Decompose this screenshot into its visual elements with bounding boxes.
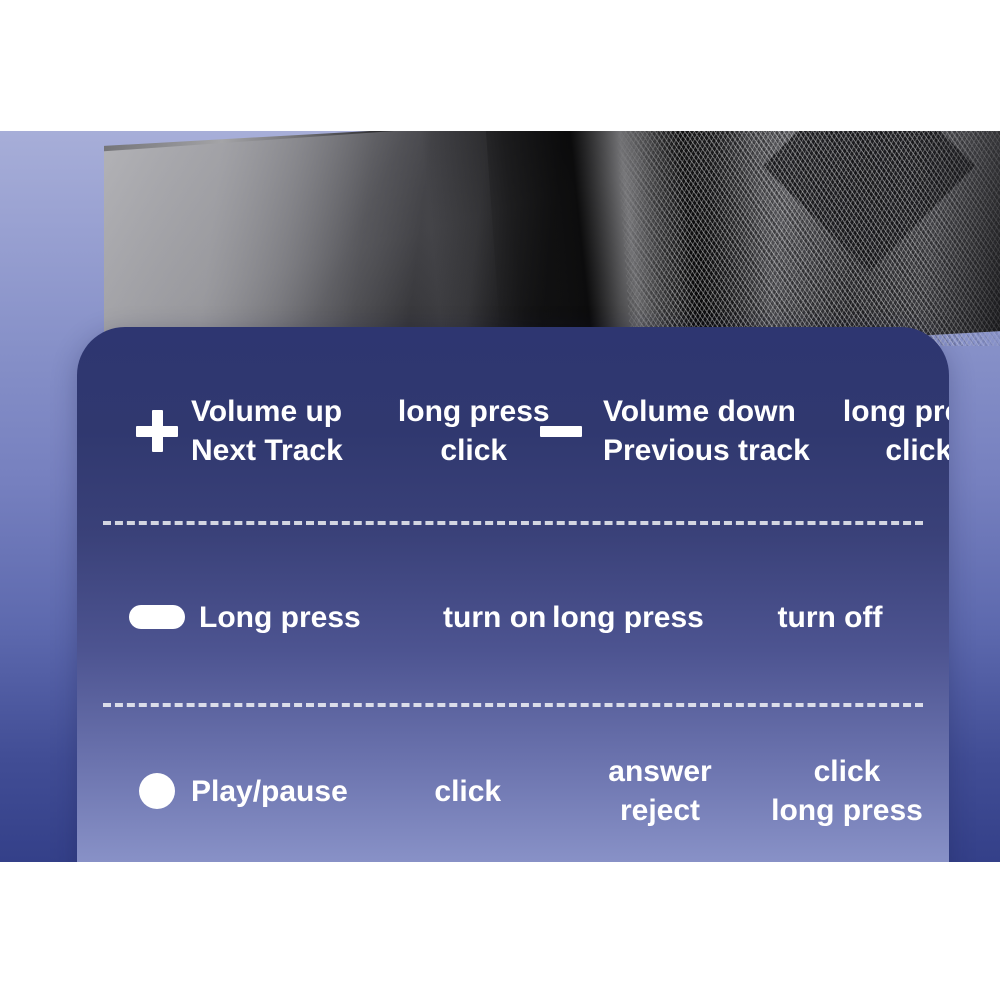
action-label: turn off [745,598,915,637]
call-actions: click long press [747,752,947,830]
power-off-group: long press turn off [521,598,949,637]
control-rows: Volume up Next Track long press click [77,327,949,862]
table-row-playback: Play/pause click answer reject click [77,735,949,847]
row-separator [103,521,923,525]
volume-down-actions: long press click [832,392,949,470]
control-guide-card: Volume up Next Track long press click [77,327,949,862]
volume-up-functions: Volume up Next Track [191,392,343,470]
call-group: answer reject click long press [521,752,949,830]
function-label: Volume down [603,392,810,431]
function-label: long press [533,598,723,637]
function-label: Volume up [191,392,343,431]
backdrop-panel: Volume up Next Track long press click [0,131,1000,862]
row-separator [103,703,923,707]
power-on-functions: Long press [199,598,361,637]
function-label: reject [585,791,735,830]
playback-functions: Play/pause [191,772,348,811]
plus-icon [129,410,185,452]
function-label: Long press [199,598,361,637]
function-label: Next Track [191,431,343,470]
table-row-power: Long press turn on long press turn off [77,577,949,657]
function-label: answer [585,752,735,791]
circle-icon [129,773,185,809]
minus-icon [533,426,589,437]
volume-up-group: Volume up Next Track long press click [77,392,521,470]
action-label: long press [747,791,947,830]
action-label: long press [832,392,949,431]
function-label: Previous track [603,431,810,470]
playback-group: Play/pause click [77,772,521,811]
action-label: click [832,431,949,470]
power-on-group: Long press turn on [77,598,521,637]
power-off-actions: turn off [745,598,915,637]
volume-down-group: Volume down Previous track long press cl… [521,392,949,470]
pill-icon [129,605,185,629]
page-stage: Volume up Next Track long press click [0,0,1000,1000]
photo-mesh-texture [616,131,1000,346]
volume-down-functions: Volume down Previous track [603,392,810,470]
headphone-product-photo [104,131,1000,346]
power-off-functions: long press [533,598,723,637]
table-row-volume: Volume up Next Track long press click [77,375,949,487]
function-label: Play/pause [191,772,348,811]
call-functions: answer reject [585,752,735,830]
action-label: click [747,752,947,791]
